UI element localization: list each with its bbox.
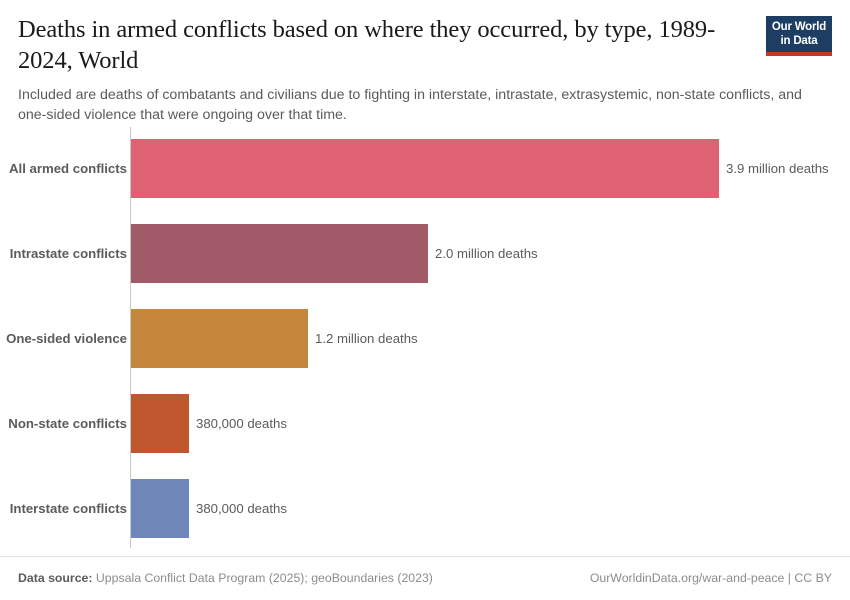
bar-rect[interactable] xyxy=(131,479,189,538)
bar-row[interactable]: Intrastate conflicts 2.0 million deaths xyxy=(0,224,850,283)
bar-category-label: Intrastate conflicts xyxy=(10,224,127,283)
our-world-in-data-logo[interactable]: Our World in Data xyxy=(766,16,832,56)
bar-row[interactable]: One-sided violence 1.2 million deaths xyxy=(0,309,850,368)
bar-rect[interactable] xyxy=(131,224,428,283)
chart-footer: Data source: Uppsala Conflict Data Progr… xyxy=(0,556,850,600)
bar-value-label: 2.0 million deaths xyxy=(435,224,538,283)
chart-plot-area: All armed conflicts 3.9 million deaths I… xyxy=(0,127,850,548)
attribution-link[interactable]: OurWorldinData.org/war-and-peace | CC BY xyxy=(590,571,832,585)
bar-category-label: All armed conflicts xyxy=(9,139,127,198)
bar-rect[interactable] xyxy=(131,139,719,198)
bar-value-label: 380,000 deaths xyxy=(196,394,287,453)
title-block: Deaths in armed conflicts based on where… xyxy=(18,14,718,76)
logo-line-2: in Data xyxy=(769,35,829,49)
data-source-label: Data source: xyxy=(18,571,93,585)
data-source-value: Uppsala Conflict Data Program (2025); ge… xyxy=(93,571,433,585)
bar-category-label: Interstate conflicts xyxy=(10,479,127,538)
bar-row[interactable]: All armed conflicts 3.9 million deaths xyxy=(0,139,850,198)
chart-header: Deaths in armed conflicts based on where… xyxy=(0,0,850,125)
bar-value-label: 380,000 deaths xyxy=(196,479,287,538)
bar-category-label: Non-state conflicts xyxy=(8,394,127,453)
bar-value-label: 3.9 million deaths xyxy=(726,139,829,198)
bar-row[interactable]: Non-state conflicts 380,000 deaths xyxy=(0,394,850,453)
bar-row[interactable]: Interstate conflicts 380,000 deaths xyxy=(0,479,850,538)
bar-rect[interactable] xyxy=(131,394,189,453)
data-source: Data source: Uppsala Conflict Data Progr… xyxy=(18,571,433,585)
bar-category-label: One-sided violence xyxy=(6,309,127,368)
bar-rect[interactable] xyxy=(131,309,308,368)
bar-value-label: 1.2 million deaths xyxy=(315,309,418,368)
page-title: Deaths in armed conflicts based on where… xyxy=(18,14,718,76)
chart-subtitle: Included are deaths of combatants and ci… xyxy=(18,85,830,125)
logo-line-1: Our World xyxy=(769,21,829,35)
